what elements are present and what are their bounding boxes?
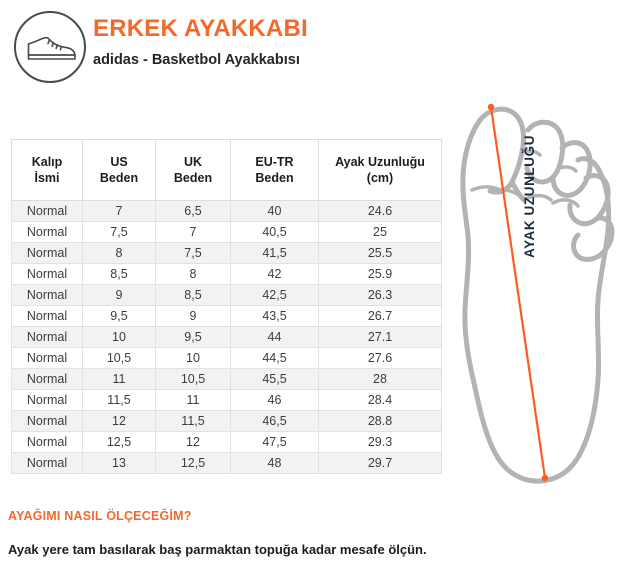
cell-eu-tr-size: 42	[231, 264, 319, 285]
cell-foot-length: 26.7	[319, 306, 442, 327]
cell-foot-length: 28.8	[319, 411, 442, 432]
cell-uk-size: 8	[156, 264, 231, 285]
cell-us-size: 8,5	[83, 264, 156, 285]
cell-uk-size: 7	[156, 222, 231, 243]
cell-foot-length: 25.9	[319, 264, 442, 285]
cell-eu-tr-size: 46,5	[231, 411, 319, 432]
table-row: Normal87,541,525.5	[12, 243, 442, 264]
cell-us-size: 7,5	[83, 222, 156, 243]
cell-eu-tr-size: 48	[231, 453, 319, 474]
column-header-line1: UK	[158, 154, 228, 170]
column-header-line1: Ayak Uzunluğu	[321, 154, 439, 170]
cell-foot-length: 27.6	[319, 348, 442, 369]
table-row: Normal8,584225.9	[12, 264, 442, 285]
table-row: Normal1312,54829.7	[12, 453, 442, 474]
table-row: Normal9,5943,526.7	[12, 306, 442, 327]
column-header-line2: Beden	[233, 170, 316, 186]
column-header-mold: Kalıp İsmi	[12, 140, 83, 201]
cell-eu-tr-size: 40	[231, 201, 319, 222]
measure-endpoint-toe	[488, 104, 494, 110]
cell-eu-tr-size: 45,5	[231, 369, 319, 390]
column-header-line1: Kalıp	[14, 154, 80, 170]
cell-us-size: 13	[83, 453, 156, 474]
cell-eu-tr-size: 42,5	[231, 285, 319, 306]
cell-eu-tr-size: 41,5	[231, 243, 319, 264]
table-row: Normal11,5114628.4	[12, 390, 442, 411]
page-subtitle: adidas - Basketbol Ayakkabısı	[93, 50, 473, 70]
cell-mold: Normal	[12, 411, 83, 432]
column-header-foot-length: Ayak Uzunluğu (cm)	[319, 140, 442, 201]
measure-note-heading: AYAĞIMI NASIL ÖLÇECEĞİM?	[8, 509, 192, 523]
cell-uk-size: 9,5	[156, 327, 231, 348]
cell-foot-length: 28	[319, 369, 442, 390]
column-header-line1: US	[85, 154, 153, 170]
table-row: Normal7,5740,525	[12, 222, 442, 243]
table-row: Normal98,542,526.3	[12, 285, 442, 306]
cell-mold: Normal	[12, 369, 83, 390]
table-header-row: Kalıp İsmi US Beden UK Beden EU-TR Beden…	[12, 140, 442, 201]
cell-eu-tr-size: 47,5	[231, 432, 319, 453]
cell-foot-length: 24.6	[319, 201, 442, 222]
cell-eu-tr-size: 46	[231, 390, 319, 411]
cell-us-size: 12	[83, 411, 156, 432]
column-header-line2: Beden	[158, 170, 228, 186]
table-row: Normal1110,545,528	[12, 369, 442, 390]
cell-eu-tr-size: 40,5	[231, 222, 319, 243]
cell-mold: Normal	[12, 201, 83, 222]
cell-mold: Normal	[12, 222, 83, 243]
cell-uk-size: 10,5	[156, 369, 231, 390]
measure-note-body: Ayak yere tam basılarak baş parmaktan to…	[8, 542, 427, 557]
cell-us-size: 10	[83, 327, 156, 348]
column-header-uk: UK Beden	[156, 140, 231, 201]
column-header-line1: EU-TR	[233, 154, 316, 170]
cell-us-size: 7	[83, 201, 156, 222]
cell-uk-size: 11	[156, 390, 231, 411]
size-chart-table: Kalıp İsmi US Beden UK Beden EU-TR Beden…	[11, 139, 442, 474]
cell-uk-size: 12	[156, 432, 231, 453]
cell-foot-length: 29.3	[319, 432, 442, 453]
cell-mold: Normal	[12, 348, 83, 369]
cell-foot-length: 26.3	[319, 285, 442, 306]
cell-uk-size: 6,5	[156, 201, 231, 222]
cell-uk-size: 9	[156, 306, 231, 327]
cell-uk-size: 12,5	[156, 453, 231, 474]
cell-mold: Normal	[12, 390, 83, 411]
cell-us-size: 11	[83, 369, 156, 390]
cell-eu-tr-size: 44,5	[231, 348, 319, 369]
cell-uk-size: 11,5	[156, 411, 231, 432]
cell-mold: Normal	[12, 432, 83, 453]
table-row: Normal109,54427.1	[12, 327, 442, 348]
cell-mold: Normal	[12, 306, 83, 327]
table-row: Normal12,51247,529.3	[12, 432, 442, 453]
column-header-us: US Beden	[83, 140, 156, 201]
cell-us-size: 8	[83, 243, 156, 264]
measure-label: AYAK UZUNLUĞU	[522, 78, 537, 258]
cell-foot-length: 27.1	[319, 327, 442, 348]
table-row: Normal76,54024.6	[12, 201, 442, 222]
cell-foot-length: 29.7	[319, 453, 442, 474]
cell-foot-length: 28.4	[319, 390, 442, 411]
cell-us-size: 11,5	[83, 390, 156, 411]
table-body: Normal76,54024.6Normal7,5740,525Normal87…	[12, 201, 442, 474]
title-block: ERKEK AYAKKABI adidas - Basketbol Ayakka…	[93, 14, 473, 70]
page-title: ERKEK AYAKKABI	[93, 14, 473, 44]
cell-mold: Normal	[12, 453, 83, 474]
cell-foot-length: 25.5	[319, 243, 442, 264]
cell-us-size: 10,5	[83, 348, 156, 369]
column-header-eu-tr: EU-TR Beden	[231, 140, 319, 201]
cell-mold: Normal	[12, 264, 83, 285]
cell-uk-size: 8,5	[156, 285, 231, 306]
cell-us-size: 9,5	[83, 306, 156, 327]
column-header-line2: Beden	[85, 170, 153, 186]
cell-us-size: 9	[83, 285, 156, 306]
shoe-icon	[14, 11, 86, 83]
cell-foot-length: 25	[319, 222, 442, 243]
table-row: Normal1211,546,528.8	[12, 411, 442, 432]
measure-endpoint-heel	[542, 475, 548, 481]
column-header-line2: İsmi	[14, 170, 80, 186]
cell-us-size: 12,5	[83, 432, 156, 453]
cell-eu-tr-size: 43,5	[231, 306, 319, 327]
cell-mold: Normal	[12, 285, 83, 306]
cell-eu-tr-size: 44	[231, 327, 319, 348]
table-row: Normal10,51044,527.6	[12, 348, 442, 369]
cell-uk-size: 10	[156, 348, 231, 369]
cell-mold: Normal	[12, 327, 83, 348]
cell-uk-size: 7,5	[156, 243, 231, 264]
cell-mold: Normal	[12, 243, 83, 264]
column-header-line2: (cm)	[321, 170, 439, 186]
